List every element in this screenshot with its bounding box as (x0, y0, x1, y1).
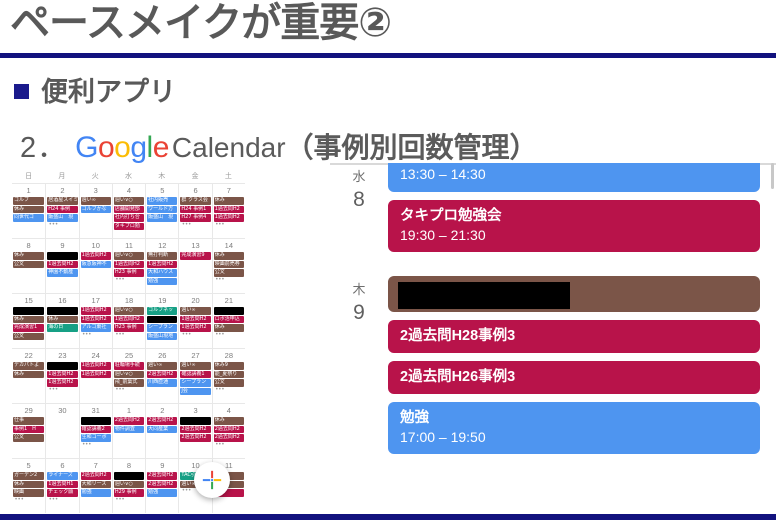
agenda-event-title: 2過去問H26事例3 (400, 368, 748, 387)
event-chip[interactable]: シープラン (180, 379, 210, 387)
day-number: 15 (13, 294, 44, 306)
event-chip[interactable]: デカパトよ (13, 362, 44, 370)
event-chip[interactable]: H23 事例 (114, 269, 144, 277)
day-cell[interactable]: 12過去問H2物件調査 (112, 403, 145, 458)
event-chip[interactable]: 無打判断 (147, 252, 177, 260)
event-chip[interactable]: ライナーズ (47, 472, 77, 480)
event-chip[interactable]: H24 事例 (47, 206, 77, 214)
day-cell[interactable]: 5社内販売ワールド方飯盛山 現 (145, 183, 178, 238)
agenda-weekday: 水 (330, 167, 388, 187)
day-cell[interactable]: 6ライナーズ1過去問H1チェック願••• (45, 458, 78, 513)
more-events-indicator[interactable]: ••• (47, 387, 77, 394)
day-number: 4 (214, 404, 244, 416)
day-cell[interactable]: 20週い∞1過去問H21過去問H2••• (178, 293, 211, 348)
day-event-chips: 2過去問H22過去問H2勉強 (147, 472, 177, 497)
redacted-event-chip[interactable] (47, 362, 77, 370)
agenda-event-redacted[interactable] (388, 276, 760, 312)
event-chip[interactable]: 大和ハウス (147, 269, 177, 277)
day-cell[interactable]: 29仕事事例1 H公文 (12, 403, 45, 458)
day-cell[interactable]: 101過去問H2阪急阪神不 (79, 238, 112, 293)
agenda-day: 木92過去問H28事例32過去問H26事例3勉強17:00 – 19:50 (330, 276, 776, 454)
redacted-event-chip[interactable] (180, 417, 210, 425)
heading-calendar-word: Calendar (172, 132, 286, 164)
day-event-chips: ゴルフ休み同世代ゴ (13, 197, 44, 222)
agenda-day-list[interactable]: 水813:30 – 14:30タキプロ勉強会19:30 – 21:30木92過去… (330, 163, 776, 454)
day-event-chips: 週い∨○店舗開発部社内打ち合タキプロ勉 (114, 197, 144, 230)
event-chip[interactable]: 休み (13, 316, 44, 324)
agenda-scrollbar[interactable] (771, 163, 774, 189)
agenda-event-time: 13:30 – 14:30 (400, 165, 748, 184)
event-chip[interactable]: 勉強 (147, 278, 177, 286)
event-chip[interactable]: 確認講義2 (81, 426, 111, 434)
day-event-chips: 仕事事例1 H公文 (13, 417, 44, 442)
event-chip[interactable]: 事例1 H (13, 426, 44, 434)
day-cell[interactable]: 26週い∞2過去問H2川西直通 (145, 348, 178, 403)
event-chip[interactable]: 休み9 (214, 362, 244, 370)
agenda-day-number: 9 (330, 300, 388, 326)
event-chip[interactable]: 社内販売 (147, 197, 177, 205)
more-events-indicator[interactable]: ••• (81, 332, 111, 339)
event-chip[interactable]: ゴルフネッ (147, 307, 177, 315)
redacted-event-chip[interactable] (214, 307, 244, 315)
day-number: 3 (81, 184, 111, 196)
event-chip[interactable]: 1過去問H2 (81, 316, 111, 324)
google-logo-g1: G (75, 131, 98, 164)
event-chip[interactable]: 駐輪場手続 (114, 362, 144, 370)
day-event-chips: 週い∨○1過去問H2H23 事例 (114, 252, 144, 277)
day-number: 20 (180, 294, 210, 306)
day-cell[interactable]: 231過去問H21過去問H2••• (45, 348, 78, 403)
event-chip[interactable]: シープラン (147, 324, 177, 332)
more-events-indicator[interactable]: ••• (214, 332, 244, 339)
day-number: 9 (147, 459, 177, 471)
event-chip[interactable]: 1過去問H2 (114, 261, 144, 269)
redaction-bar (398, 282, 570, 309)
agenda-date-column: 木9 (330, 276, 388, 454)
google-logo: Google (75, 131, 169, 165)
page-title: ペースメイクが重要② (10, 0, 391, 48)
more-events-indicator[interactable]: ••• (47, 497, 77, 504)
event-chip[interactable]: 休み (214, 252, 244, 260)
day-number: 5 (147, 184, 177, 196)
day-event-chips: 無打判断1過去問H2大和ハウス勉強 (147, 252, 177, 285)
event-chip[interactable]: 1過去問H2 (81, 252, 111, 260)
day-event-chips: 1過去問H2阪急阪神不 (81, 252, 111, 268)
event-chip[interactable]: ゴルフ (13, 197, 44, 205)
day-cell[interactable]: 92過去問H22過去問H2勉強 (145, 458, 178, 513)
day-event-chips: ガーデン2休み映画 (13, 472, 44, 497)
event-chip[interactable]: 1過去問H2 (214, 206, 244, 214)
day-cell[interactable]: 30 (45, 403, 78, 458)
day-cell[interactable]: 13完成演習9 (178, 238, 211, 293)
event-chip[interactable]: H24 事例1 (180, 206, 210, 214)
event-chip[interactable]: 1過去問H2 (81, 362, 111, 370)
event-chip[interactable]: 阪急阪神不 (81, 261, 111, 269)
event-chip[interactable]: 週い∨○ (114, 307, 144, 315)
day-cell[interactable]: 12無打判断1過去問H2大和ハウス勉強 (145, 238, 178, 293)
day-number: 6 (47, 459, 77, 471)
event-chip[interactable]: 休み (13, 252, 44, 260)
day-number: 26 (147, 349, 177, 361)
event-chip[interactable]: ガーデン2 (13, 472, 44, 480)
more-events-indicator[interactable]: ••• (114, 332, 144, 339)
redacted-event-chip[interactable] (13, 307, 44, 315)
weekday-header-4: 木 (145, 171, 178, 181)
create-event-fab[interactable] (194, 462, 230, 498)
day-event-chips: 完成演習9 (180, 252, 210, 260)
day-event-chips: 週い∨○H29 事例 (114, 472, 144, 497)
more-events-indicator[interactable]: ••• (180, 222, 210, 229)
event-chip[interactable]: 休み (13, 371, 44, 379)
event-chip[interactable]: 休み (13, 481, 44, 489)
day-number: 8 (13, 239, 44, 251)
agenda-event-time: 19:30 – 21:30 (400, 226, 748, 245)
day-number: 14 (214, 239, 244, 251)
event-chip[interactable]: 2過去問H2 (81, 472, 111, 480)
event-chip[interactable]: 2過去問H2 (180, 434, 210, 442)
weekday-header-3: 水 (112, 171, 145, 181)
day-event-chips: 休み公文 (13, 252, 44, 268)
day-number: 29 (13, 404, 44, 416)
event-chip[interactable]: 完成演習9 (180, 252, 210, 260)
day-event-chips: 休み完成演習1公文 (13, 307, 44, 340)
event-chip[interactable]: 1過去問H2 (81, 371, 111, 379)
day-cell[interactable]: 18週い∨○1過去問H2H23 事例••• (112, 293, 145, 348)
event-chip[interactable]: タキプロ勉 (114, 223, 144, 231)
day-cell[interactable]: 5ガーデン2休み映画••• (12, 458, 45, 513)
day-number: 3 (180, 404, 210, 416)
more-events-indicator[interactable]: ••• (214, 387, 244, 394)
redacted-event-chip[interactable] (81, 417, 111, 425)
agenda-event[interactable]: タキプロ勉強会19:30 – 21:30 (388, 200, 760, 252)
event-chip[interactable]: 飯盛山現地 (147, 333, 177, 341)
agenda-event-time: 17:00 – 19:50 (400, 428, 748, 447)
weekday-header-5: 金 (178, 171, 211, 181)
day-cell[interactable]: 31確認講義2生和コーポ••• (79, 403, 112, 458)
day-event-chips: 週い∞1過去問H21過去問H2 (180, 307, 210, 332)
event-chip[interactable]: J会 (180, 388, 210, 396)
redacted-event-chip[interactable] (147, 316, 177, 324)
event-chip[interactable]: 2過去問H2 (214, 434, 244, 442)
day-event-chips: 駐輪場手続週い∨○飛_前葉式 (114, 362, 144, 387)
google-logo-o2: o (114, 131, 130, 164)
event-chip[interactable]: 公文 (13, 261, 44, 269)
day-number: 28 (214, 349, 244, 361)
day-cell[interactable]: 27週い∞確認講義1シープランJ会 (178, 348, 211, 403)
event-chip[interactable]: チェック願 (47, 489, 77, 497)
event-chip[interactable]: 週い∞ (180, 307, 210, 315)
day-number: 7 (81, 459, 111, 471)
agenda-event-title: タキプロ勉強会 (400, 207, 748, 226)
agenda-events: 2過去問H28事例32過去問H26事例3勉強17:00 – 19:50 (388, 276, 776, 454)
day-number: 5 (13, 459, 44, 471)
google-logo-g2: g (130, 131, 146, 164)
day-number: 6 (180, 184, 210, 196)
event-chip[interactable]: 映画前売券 (214, 261, 244, 269)
day-cell[interactable]: 6群 クラス会H24 事例1H27 事例4••• (178, 183, 211, 238)
event-chip[interactable]: 公文 (214, 269, 244, 277)
redacted-event-chip[interactable] (114, 472, 144, 480)
event-chip[interactable]: 飯盛山 現 (47, 214, 77, 222)
event-chip[interactable]: 週い∞ (180, 362, 210, 370)
event-chip[interactable]: 2過去問H2 (214, 426, 244, 434)
event-chip[interactable]: 映画 (13, 489, 44, 497)
event-chip[interactable]: 仕事 (13, 417, 44, 425)
day-cell[interactable]: 91過去問H2神園不動産 (45, 238, 78, 293)
more-events-indicator[interactable]: ••• (114, 497, 144, 504)
day-number: 2 (47, 184, 77, 196)
event-chip[interactable]: 1過去問H2 (47, 379, 77, 387)
agenda-panel[interactable]: 水813:30 – 14:30タキプロ勉強会19:30 – 21:30木92過去… (330, 163, 776, 511)
day-event-chips: 群 クラス会H24 事例1H27 事例4 (180, 197, 210, 222)
weekday-header-0: 日 (12, 171, 45, 181)
day-cell[interactable]: 8休み公文 (12, 238, 45, 293)
event-chip[interactable]: 公文 (13, 434, 44, 442)
event-chip[interactable]: 大同産業 (147, 426, 177, 434)
day-cell[interactable]: 14休み映画前売券公文••• (212, 238, 245, 293)
event-chip[interactable]: 1過去問H2 (81, 307, 111, 315)
more-events-indicator[interactable]: ••• (214, 222, 244, 229)
event-chip[interactable]: 2過去問H2 (114, 417, 144, 425)
day-event-chips: 週い∨○1過去問H2H23 事例 (114, 307, 144, 332)
redacted-event-chip[interactable] (47, 252, 77, 260)
day-cell[interactable]: 28休み9能_夏祭り公文••• (212, 348, 245, 403)
more-events-indicator[interactable]: ••• (180, 332, 210, 339)
agenda-event[interactable]: 2過去問H28事例3 (388, 320, 760, 353)
day-number: 16 (47, 294, 77, 306)
event-chip[interactable]: 休み (13, 206, 44, 214)
day-cell[interactable]: 241過去問H21過去問H2 (79, 348, 112, 403)
event-chip[interactable]: 1過去問H2 (47, 371, 77, 379)
more-events-indicator[interactable]: ••• (114, 277, 144, 284)
day-cell[interactable]: 21ロボ活申込休み••• (212, 293, 245, 348)
event-chip[interactable]: 2過去問H2 (147, 417, 177, 425)
weekday-header-6: 土 (212, 171, 245, 181)
event-chip[interactable]: 1過去問H2 (214, 214, 244, 222)
day-cell[interactable]: 171過去問H21過去問H2アルゴ東社••• (79, 293, 112, 348)
day-number: 7 (214, 184, 244, 196)
event-chip[interactable]: 物件調査 (114, 426, 144, 434)
event-chip[interactable]: 1過去問H2 (47, 261, 77, 269)
day-event-chips: 居酒屋スイミH24 事例飯盛山 現 (47, 197, 77, 222)
bullet-label: 便利アプリ (41, 70, 176, 109)
event-chip[interactable]: 飛_前葉式 (114, 379, 144, 387)
day-cell[interactable]: 2居酒屋スイミH24 事例飯盛山 現••• (45, 183, 78, 238)
google-logo-o1: o (98, 131, 114, 164)
day-event-chips: 休み映画前売券公文 (214, 252, 244, 277)
day-number: 9 (47, 239, 77, 251)
day-number: 21 (214, 294, 244, 306)
more-events-indicator[interactable]: ••• (81, 442, 111, 449)
more-events-indicator[interactable]: ••• (214, 277, 244, 284)
event-chip[interactable]: 1過去問H2 (114, 316, 144, 324)
day-number: 11 (114, 239, 144, 251)
bullet-row: 便利アプリ (14, 70, 176, 109)
agenda-date-column: 水8 (330, 163, 388, 252)
redacted-event-chip[interactable] (47, 307, 77, 315)
agenda-event[interactable]: 2過去問H26事例3 (388, 361, 760, 394)
day-cell[interactable]: 32過去問H22過去問H2 (178, 403, 211, 458)
event-chip[interactable]: 週い∞ (81, 197, 111, 205)
day-cell[interactable]: 16休み海の日 (45, 293, 78, 348)
google-calendar-heading: 2． Google Calendar （事例別回数管理） (20, 124, 538, 166)
event-chip[interactable]: 1過去問H1 (47, 481, 77, 489)
day-number: 1 (13, 184, 44, 196)
day-cell[interactable]: 22デカパトよ休み (12, 348, 45, 403)
day-event-chips: ロボ活申込休み (214, 307, 244, 332)
day-cell[interactable]: 4休み2過去問H22過去問H2••• (212, 403, 245, 458)
event-chip[interactable]: 同世代ゴ (13, 214, 44, 222)
day-number: 17 (81, 294, 111, 306)
footer-divider (0, 514, 776, 520)
day-event-chips: 休み9能_夏祭り公文 (214, 362, 244, 387)
event-chip[interactable]: 週い∨○ (114, 371, 144, 379)
day-cell[interactable]: 25駐輪場手続週い∨○飛_前葉式••• (112, 348, 145, 403)
agenda-day-spacer (330, 254, 776, 276)
event-chip[interactable]: H27 事例4 (180, 214, 210, 222)
day-number: 27 (180, 349, 210, 361)
day-cell[interactable]: 7休み1過去問H21過去問H2••• (212, 183, 245, 238)
event-chip[interactable]: 休み (214, 197, 244, 205)
day-cell[interactable]: 1ゴルフ休み同世代ゴ (12, 183, 45, 238)
day-event-chips: 確認講義2生和コーポ (81, 417, 111, 442)
more-events-indicator[interactable]: ••• (214, 442, 244, 449)
event-chip[interactable]: 完成演習1 (13, 324, 44, 332)
title-divider (0, 53, 776, 58)
agenda-weekday: 木 (330, 280, 388, 300)
more-events-indicator[interactable]: ••• (114, 387, 144, 394)
day-event-chips: 2過去問H2大和リース勉強 (81, 472, 111, 497)
day-event-chips: 1過去問H21過去問H2 (47, 362, 77, 387)
day-number: 24 (81, 349, 111, 361)
day-event-chips: 週い∞確認講義1シープランJ会 (180, 362, 210, 395)
event-chip[interactable]: 1過去問H2 (147, 261, 177, 269)
agenda-event-title: 2過去問H28事例3 (400, 327, 748, 346)
event-chip[interactable]: 店舗開発部 (114, 206, 144, 214)
event-chip[interactable]: 勉強 (81, 489, 111, 497)
day-number: 18 (114, 294, 144, 306)
event-chip[interactable]: 川西直通 (147, 379, 177, 387)
day-event-chips: 1過去問H21過去問H2アルゴ東社 (81, 307, 111, 332)
day-number: 10 (81, 239, 111, 251)
event-chip[interactable]: 2過去問H2 (147, 481, 177, 489)
day-number: 2 (147, 404, 177, 416)
event-chip[interactable]: 神園不動産 (47, 269, 77, 277)
heading-number: 2． (20, 124, 67, 166)
agenda-day: 水813:30 – 14:30タキプロ勉強会19:30 – 21:30 (330, 163, 776, 252)
day-event-chips: 1過去問H21過去問H2 (81, 362, 111, 378)
day-number: 31 (81, 404, 111, 416)
weekday-header-2: 火 (79, 171, 112, 181)
event-chip[interactable]: 公文 (214, 379, 244, 387)
day-number: 30 (47, 404, 77, 416)
event-chip[interactable]: 群 クラス会 (180, 197, 210, 205)
event-chip[interactable]: 週い∨○ (114, 481, 144, 489)
event-chip[interactable]: 週い∞ (147, 362, 177, 370)
day-cell[interactable]: 19ゴルフネッシープラン飯盛山現地 (145, 293, 178, 348)
square-bullet-icon (14, 84, 29, 99)
event-chip[interactable]: 1過去問H2 (180, 324, 210, 332)
plus-icon (201, 469, 223, 491)
event-chip[interactable]: ゴルフかな (81, 206, 111, 214)
day-number: 22 (13, 349, 44, 361)
day-event-chips: 週い∞ゴルフかな (81, 197, 111, 213)
event-chip[interactable]: 2過去問H2 (147, 371, 177, 379)
day-event-chips: 2過去問H22過去問H2 (180, 417, 210, 442)
day-event-chips: 週い∞2過去問H2川西直通 (147, 362, 177, 387)
day-number: 8 (114, 459, 144, 471)
event-chip[interactable]: 休み (214, 417, 244, 425)
event-chip[interactable]: 休み (214, 324, 244, 332)
event-chip[interactable]: 生和コーポ (81, 434, 111, 442)
agenda-event[interactable]: 13:30 – 14:30 (388, 163, 760, 192)
day-event-chips: 1過去問H2神園不動産 (47, 252, 77, 277)
weekday-header-1: 月 (45, 171, 78, 181)
event-chip[interactable]: 2過去問H2 (147, 472, 177, 480)
day-event-chips: ゴルフネッシープラン飯盛山現地 (147, 307, 177, 340)
day-cell[interactable]: 22過去問H2大同産業 (145, 403, 178, 458)
agenda-event-title: 勉強 (400, 409, 748, 428)
event-chip[interactable]: 公文 (13, 333, 44, 341)
day-number: 13 (180, 239, 210, 251)
event-chip[interactable]: 海の日 (47, 324, 77, 332)
day-event-chips: 2過去問H2大同産業 (147, 417, 177, 433)
event-chip[interactable]: 飯盛山 現 (147, 214, 177, 222)
event-chip[interactable]: 1過去問H2 (180, 316, 210, 324)
event-chip[interactable]: 大和リース (81, 481, 111, 489)
event-chip[interactable]: 週い∨○ (114, 197, 144, 205)
day-event-chips: ライナーズ1過去問H1チェック願 (47, 472, 77, 497)
heading-annotation: （事例別回数管理） (286, 126, 538, 166)
agenda-event[interactable]: 勉強17:00 – 19:50 (388, 402, 760, 454)
event-chip[interactable]: 確認講義1 (180, 371, 210, 379)
day-cell[interactable]: 4週い∨○店舗開発部社内打ち合タキプロ勉 (112, 183, 145, 238)
day-cell[interactable]: 8週い∨○H29 事例••• (112, 458, 145, 513)
day-cell[interactable]: 72過去問H2大和リース勉強 (79, 458, 112, 513)
day-number: 1 (114, 404, 144, 416)
event-chip[interactable]: 週い∨○ (114, 252, 144, 260)
event-chip[interactable]: H29 事例 (114, 489, 144, 497)
event-chip[interactable]: ワールド方 (147, 206, 177, 214)
day-event-chips: 休み1過去問H21過去問H2 (214, 197, 244, 222)
event-chip[interactable]: 休み (47, 316, 77, 324)
day-number: 12 (147, 239, 177, 251)
event-chip[interactable]: ロボ活申込 (214, 316, 244, 324)
more-events-indicator[interactable]: ••• (47, 222, 77, 229)
day-event-chips: デカパトよ休み (13, 362, 44, 378)
event-chip[interactable]: 居酒屋スイミ (47, 197, 77, 205)
day-cell[interactable]: 15休み完成演習1公文 (12, 293, 45, 348)
more-events-indicator[interactable]: ••• (13, 497, 44, 504)
day-cell[interactable]: 11週い∨○1過去問H2H23 事例••• (112, 238, 145, 293)
day-number: 25 (114, 349, 144, 361)
day-number: 4 (114, 184, 144, 196)
weekday-header-row: 日月火水木金土 (12, 168, 245, 183)
event-chip[interactable]: 能_夏祭り (214, 371, 244, 379)
google-logo-e: e (153, 131, 169, 164)
event-chip[interactable]: 社内打ち合 (114, 214, 144, 222)
day-number: 19 (147, 294, 177, 306)
day-event-chips: 社内販売ワールド方飯盛山 現 (147, 197, 177, 222)
day-event-chips: 2過去問H2物件調査 (114, 417, 144, 433)
day-cell[interactable]: 3週い∞ゴルフかな (79, 183, 112, 238)
agenda-day-number: 8 (330, 187, 388, 213)
event-chip[interactable]: 勉強 (147, 489, 177, 497)
event-chip[interactable]: アルゴ東社 (81, 324, 111, 332)
event-chip[interactable]: H23 事例 (114, 324, 144, 332)
event-chip[interactable]: 2過去問H2 (180, 426, 210, 434)
day-event-chips: 休み2過去問H22過去問H2 (214, 417, 244, 442)
